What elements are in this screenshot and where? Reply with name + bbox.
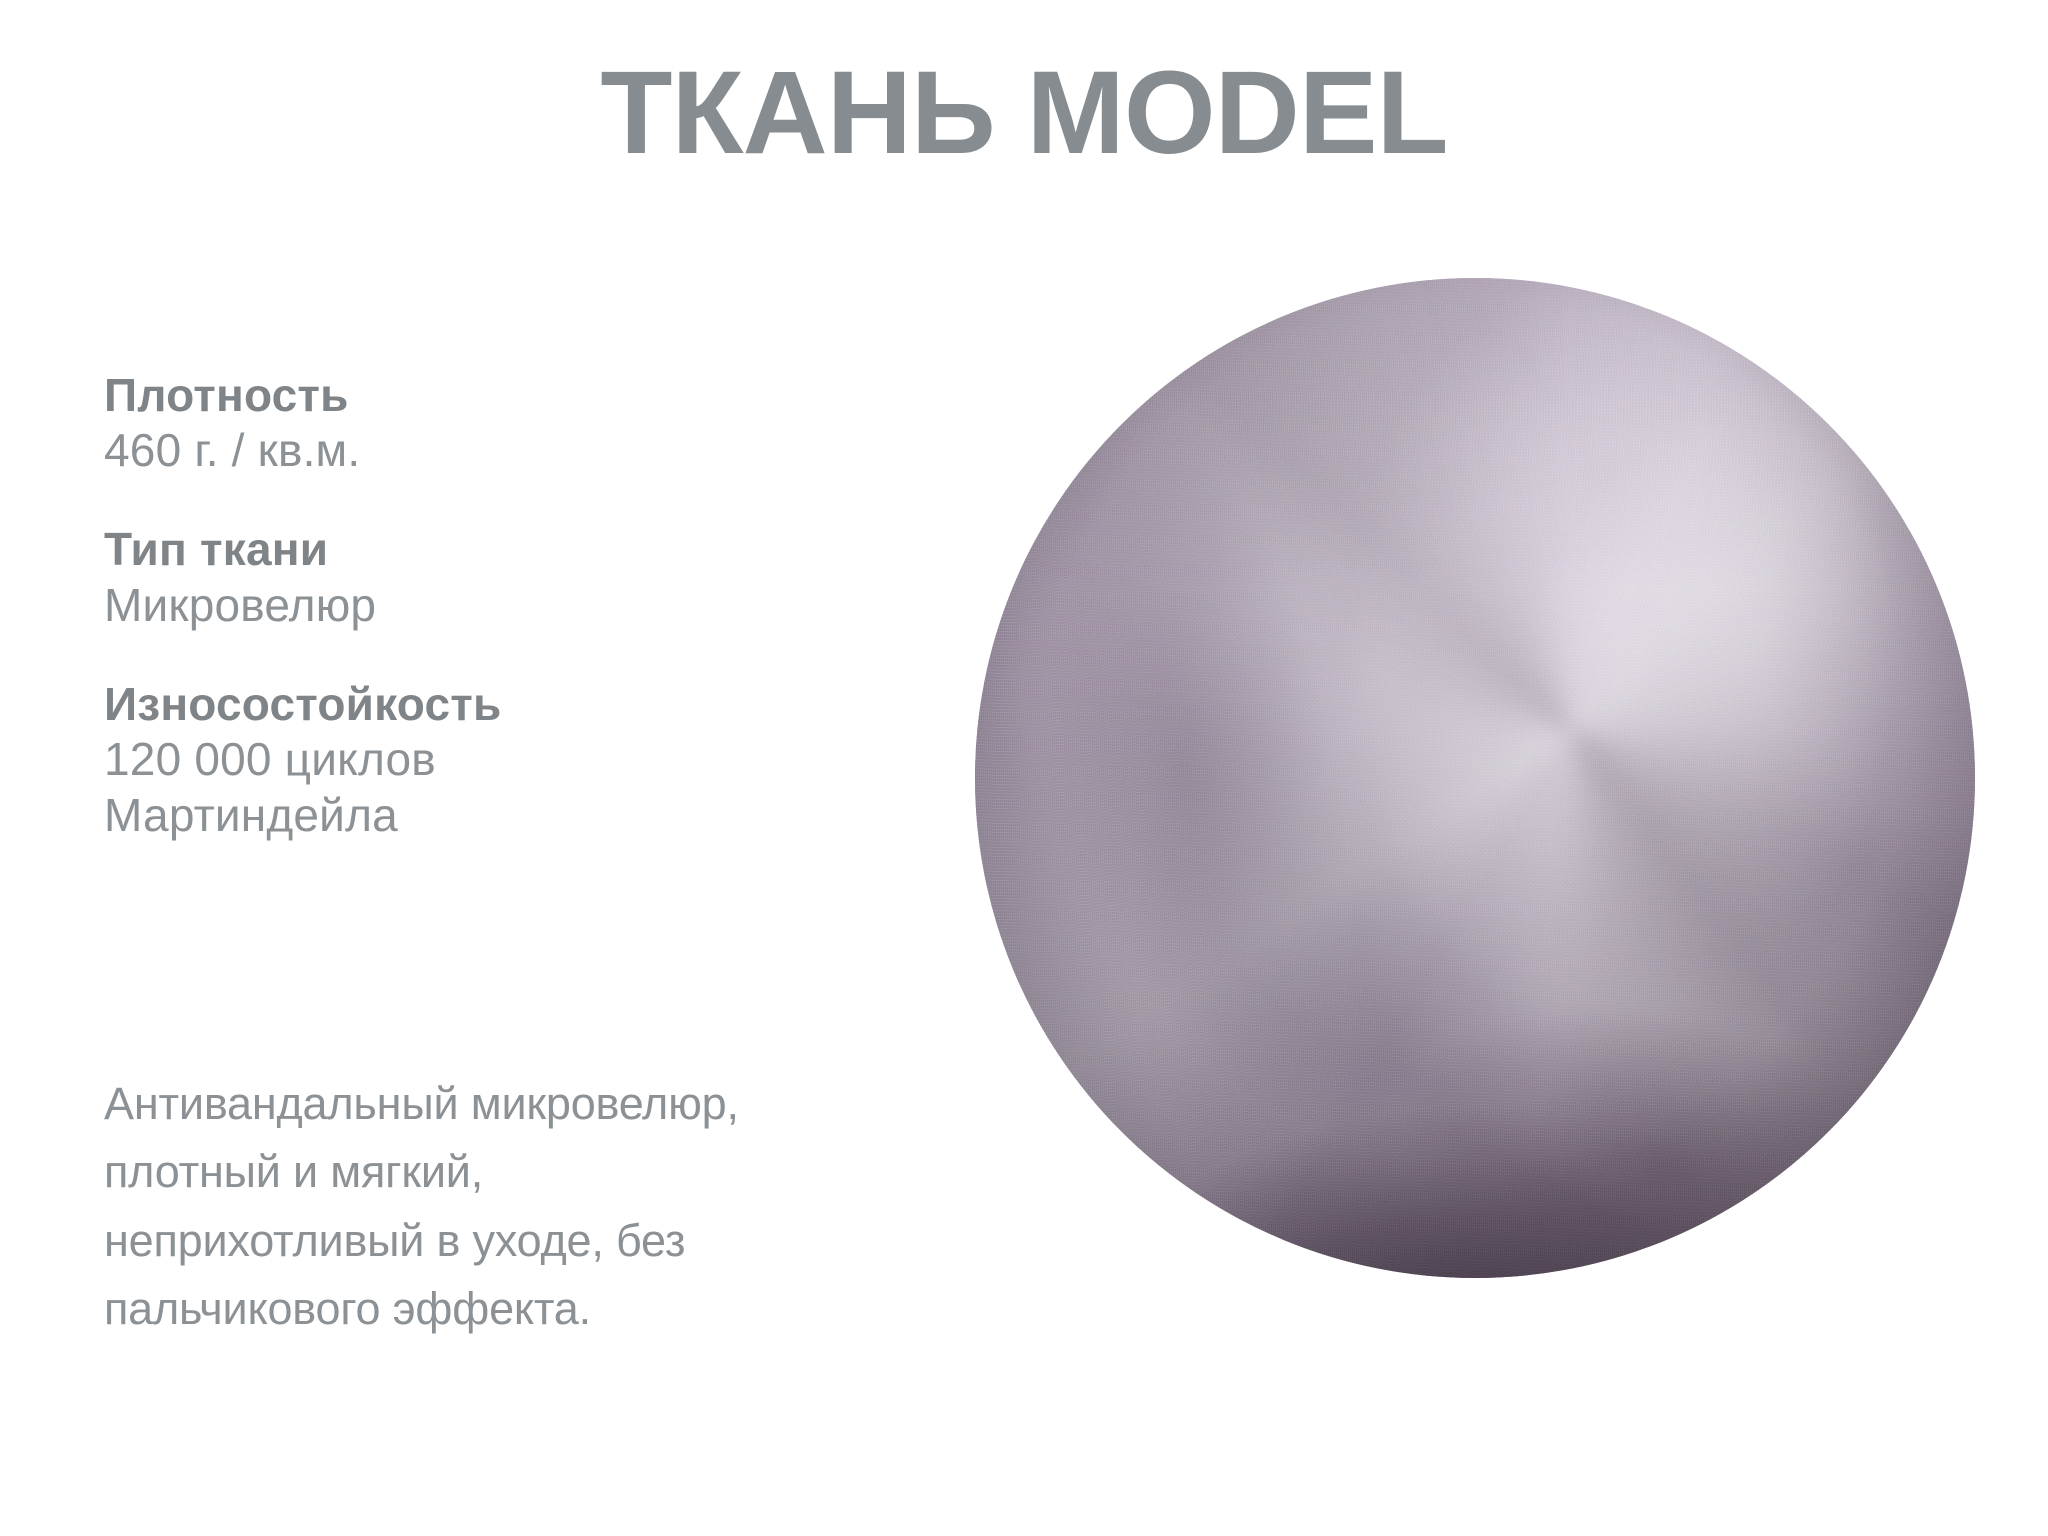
description-line: Антивандальный микровелюр, bbox=[104, 1070, 1024, 1138]
spec-label-durability: Износостойкость bbox=[104, 677, 844, 731]
spec-value-line: Микровелюр bbox=[104, 577, 844, 633]
spec-item-fabric-type: Тип ткани Микровелюр bbox=[104, 522, 844, 632]
spec-value-line: 120 000 циклов bbox=[104, 731, 844, 787]
spec-value-density: 460 г. / кв.м. bbox=[104, 422, 844, 478]
spec-value-fabric-type: Микровелюр bbox=[104, 577, 844, 633]
spec-label-fabric-type: Тип ткани bbox=[104, 522, 844, 576]
spec-list: Плотность 460 г. / кв.м. Тип ткани Микро… bbox=[104, 368, 844, 843]
spec-value-line: Мартиндейла bbox=[104, 787, 844, 843]
spec-value-durability: 120 000 циклов Мартиндейла bbox=[104, 731, 844, 843]
fabric-photo-image bbox=[975, 278, 1975, 1278]
description-paragraph: Антивандальный микровелюр, плотный и мяг… bbox=[104, 1070, 1024, 1344]
description-line: плотный и мягкий, bbox=[104, 1138, 1024, 1206]
description-line: пальчикового эффекта. bbox=[104, 1275, 1024, 1343]
fabric-vignette bbox=[975, 278, 1975, 1278]
page-title: ТКАНЬ MODEL bbox=[0, 52, 2048, 176]
description-line: неприхотливый в уходе, без bbox=[104, 1207, 1024, 1275]
spec-value-line: 460 г. / кв.м. bbox=[104, 422, 844, 478]
spec-item-density: Плотность 460 г. / кв.м. bbox=[104, 368, 844, 478]
spec-label-density: Плотность bbox=[104, 368, 844, 422]
spec-item-durability: Износостойкость 120 000 циклов Мартиндей… bbox=[104, 677, 844, 843]
fabric-photo-circle bbox=[975, 278, 1975, 1278]
